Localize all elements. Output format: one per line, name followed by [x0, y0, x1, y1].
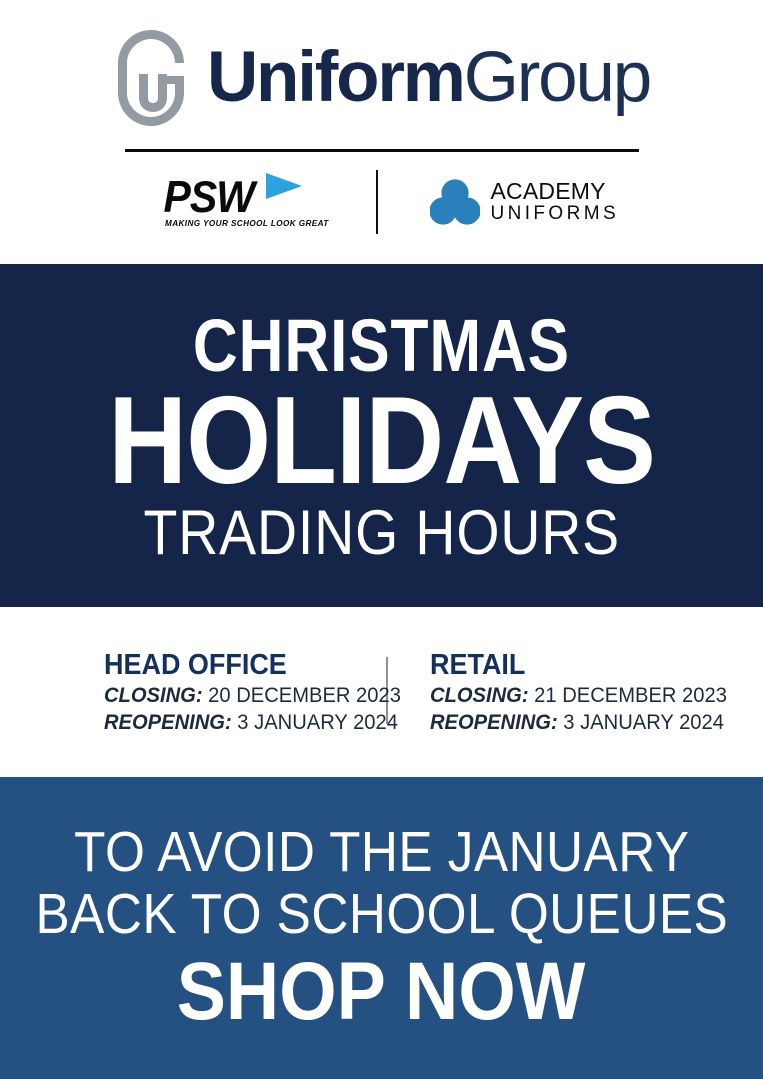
head-office-reopening-row: REOPENING: 3 JANUARY 2024 [104, 709, 375, 736]
psw-tagline: MAKING YOUR SCHOOL LOOK GREAT [165, 219, 329, 228]
head-office-closing-value: 20 DECEMBER 2023 [208, 684, 401, 707]
trading-hours-section: HEAD OFFICE CLOSING: 20 DECEMBER 2023 RE… [0, 607, 763, 777]
hero-banner: CHRISTMAS HOLIDAYS TRADING HOURS [0, 264, 763, 607]
trading-hours-column-head-office: HEAD OFFICE CLOSING: 20 DECEMBER 2023 RE… [56, 649, 386, 736]
retail-reopening-label: REOPENING: [430, 711, 558, 734]
psw-arrow-icon [266, 173, 302, 199]
academy-uniforms-logo: ACADEMY UNIFORMS [430, 174, 600, 230]
brand-wordmark: UniformGroup [207, 26, 650, 130]
hero-heading-holidays: HOLIDAYS [108, 385, 655, 497]
retail-closing-value: 21 DECEMBER 2023 [534, 684, 727, 707]
head-office-reopening-value: 3 JANUARY 2024 [237, 711, 398, 734]
brand-wordmark-light: Group [464, 38, 650, 117]
head-office-closing-row: CLOSING: 20 DECEMBER 2023 [104, 682, 375, 709]
header-logo-block: UniformGroup PSW MAKING YOUR SCHOOL LOOK… [0, 0, 763, 264]
hero-subheading-trading-hours: TRADING HOURS [143, 499, 620, 567]
promo-poster: UniformGroup PSW MAKING YOUR SCHOOL LOOK… [0, 0, 763, 1079]
retail-closing-row: CLOSING: 21 DECEMBER 2023 [430, 682, 706, 709]
brand-wordmark-bold: Uniform [207, 38, 464, 117]
psw-logo: PSW MAKING YOUR SCHOOL LOOK GREAT [164, 171, 324, 233]
brand-lockup: UniformGroup [0, 26, 763, 130]
cta-line-2: BACK TO SCHOOL QUEUES [35, 883, 728, 945]
academy-line-1: ACADEMY [491, 180, 620, 203]
trading-hours-column-retail: RETAIL CLOSING: 21 DECEMBER 2023 REOPENI… [388, 649, 718, 736]
retail-title: RETAIL [430, 649, 698, 682]
cta-line-1: TO AVOID THE JANUARY [74, 821, 689, 883]
cta-shop-now[interactable]: SHOP NOW [177, 949, 586, 1035]
sub-brand-divider [376, 170, 378, 234]
uniform-group-monogram-icon [113, 26, 189, 130]
academy-line-2: UNIFORMS [491, 203, 620, 225]
header-divider-rule [125, 149, 639, 152]
academy-uniforms-text: ACADEMY UNIFORMS [491, 180, 620, 225]
retail-closing-label: CLOSING: [430, 684, 529, 707]
psw-wordmark: PSW [164, 173, 254, 221]
retail-reopening-row: REOPENING: 3 JANUARY 2024 [430, 709, 706, 736]
head-office-closing-label: CLOSING: [104, 684, 203, 707]
trading-hours-columns: HEAD OFFICE CLOSING: 20 DECEMBER 2023 RE… [48, 649, 716, 736]
head-office-reopening-label: REOPENING: [104, 711, 232, 734]
academy-trefoil-icon [430, 179, 480, 225]
sub-brand-row: PSW MAKING YOUR SCHOOL LOOK GREAT ACADEM… [0, 164, 763, 240]
retail-reopening-value: 3 JANUARY 2024 [563, 711, 724, 734]
head-office-title: HEAD OFFICE [104, 649, 366, 682]
call-to-action-banner: TO AVOID THE JANUARY BACK TO SCHOOL QUEU… [0, 777, 763, 1079]
